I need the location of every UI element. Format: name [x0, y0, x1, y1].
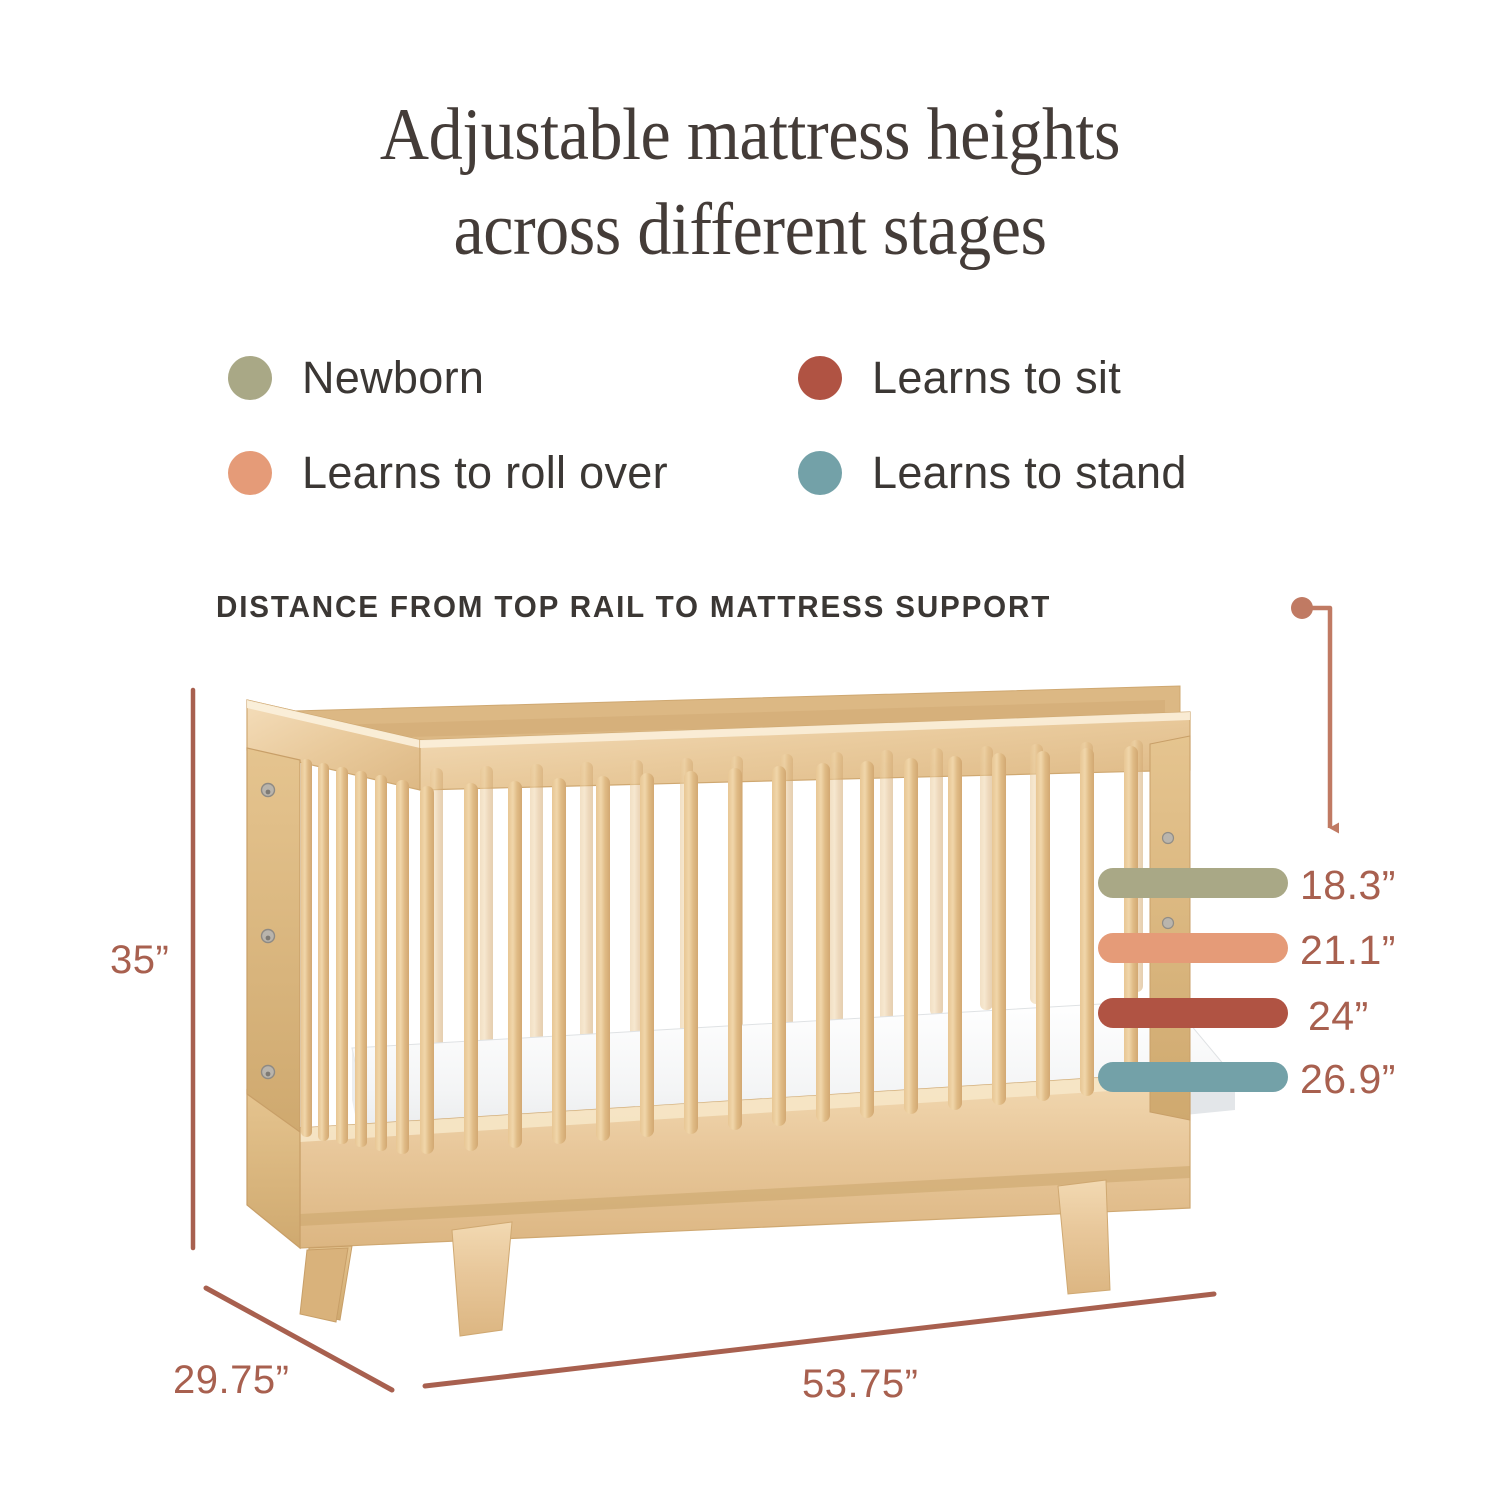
measurement-value-stand: 26.9”	[1300, 1056, 1396, 1103]
measurement-pill-stand	[1098, 1062, 1288, 1092]
dimension-label-height: 35”	[110, 938, 169, 983]
dimension-label-width: 53.75”	[802, 1362, 918, 1407]
top-rail-pointer-arrow	[1291, 597, 1330, 828]
measurement-pill-newborn	[1098, 868, 1288, 898]
footprint-dimension-guides	[206, 1288, 1214, 1390]
measurement-value-roll-over: 21.1”	[1300, 927, 1396, 974]
measurement-value-newborn: 18.3”	[1300, 862, 1396, 909]
crib-illustration	[247, 686, 1235, 1342]
measurement-pill-sit	[1098, 998, 1288, 1028]
crib-diagram	[0, 0, 1500, 1500]
measurement-pill-roll-over	[1098, 933, 1288, 963]
measurement-value-sit: 24”	[1308, 993, 1369, 1040]
dimension-label-depth: 29.75”	[173, 1358, 289, 1403]
infographic-page: Adjustable mattress heights across diffe…	[0, 0, 1500, 1500]
